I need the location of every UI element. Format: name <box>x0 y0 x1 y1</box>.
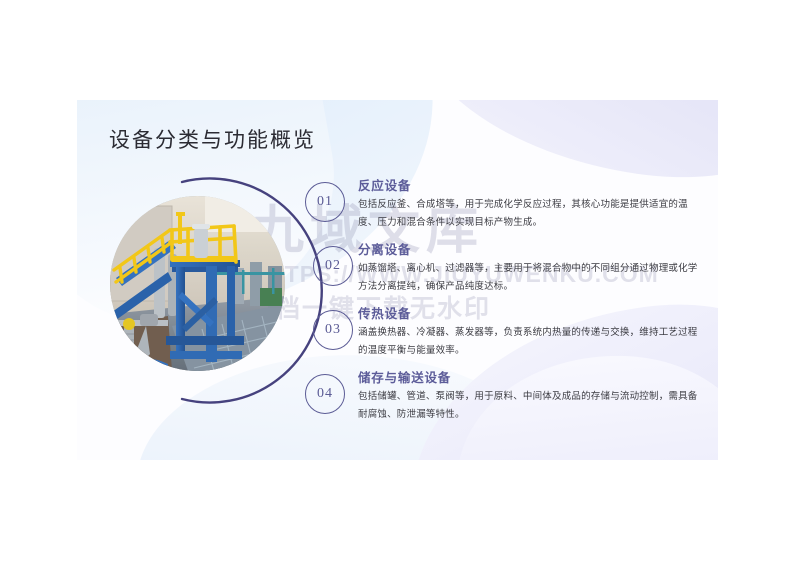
item-number-badge: 03 <box>313 310 353 350</box>
item-description: 包括储罐、管道、泵阀等，用于原料、中间体及成品的存储与流动控制，需具备耐腐蚀、防… <box>358 389 705 424</box>
page-title: 设备分类与功能概览 <box>109 124 316 154</box>
item-description: 涵盖换热器、冷凝器、蒸发器等，负责系统内热量的传递与交换，维持工艺过程的温度平衡… <box>358 325 705 360</box>
item-number-badge: 01 <box>305 182 345 222</box>
item-body: 储存与输送设备 包括储罐、管道、泵阀等，用于原料、中间体及成品的存储与流动控制，… <box>358 370 705 424</box>
chemical-plant-photo <box>110 196 285 371</box>
item-title: 分离设备 <box>358 242 705 258</box>
item-title: 传热设备 <box>358 306 705 322</box>
item-number-badge: 04 <box>305 374 345 414</box>
item-body: 传热设备 涵盖换热器、冷凝器、蒸发器等，负责系统内热量的传递与交换，维持工艺过程… <box>358 306 705 360</box>
list-item[interactable]: 01 反应设备 包括反应釜、合成塔等，用于完成化学反应过程，其核心功能是提供适宜… <box>305 178 705 238</box>
list-item[interactable]: 04 储存与输送设备 包括储罐、管道、泵阀等，用于原料、中间体及成品的存储与流动… <box>305 370 705 430</box>
item-description: 包括反应釜、合成塔等，用于完成化学反应过程，其核心功能是提供适宜的温度、压力和混… <box>358 197 705 232</box>
equipment-category-list: 01 反应设备 包括反应釜、合成塔等，用于完成化学反应过程，其核心功能是提供适宜… <box>305 178 705 434</box>
list-item[interactable]: 03 传热设备 涵盖换热器、冷凝器、蒸发器等，负责系统内热量的传递与交换，维持工… <box>305 306 705 366</box>
photo-group <box>97 168 337 413</box>
item-title: 储存与输送设备 <box>358 370 705 386</box>
item-body: 分离设备 如蒸馏塔、离心机、过滤器等，主要用于将混合物中的不同组分通过物理或化学… <box>358 242 705 296</box>
item-title: 反应设备 <box>358 178 705 194</box>
item-number-badge: 02 <box>313 246 353 286</box>
item-description: 如蒸馏塔、离心机、过滤器等，主要用于将混合物中的不同组分通过物理或化学方法分离提… <box>358 261 705 296</box>
item-body: 反应设备 包括反应釜、合成塔等，用于完成化学反应过程，其核心功能是提供适宜的温度… <box>358 178 705 232</box>
list-item[interactable]: 02 分离设备 如蒸馏塔、离心机、过滤器等，主要用于将混合物中的不同组分通过物理… <box>305 242 705 302</box>
slide-canvas: 设备分类与功能概览 <box>77 100 718 460</box>
